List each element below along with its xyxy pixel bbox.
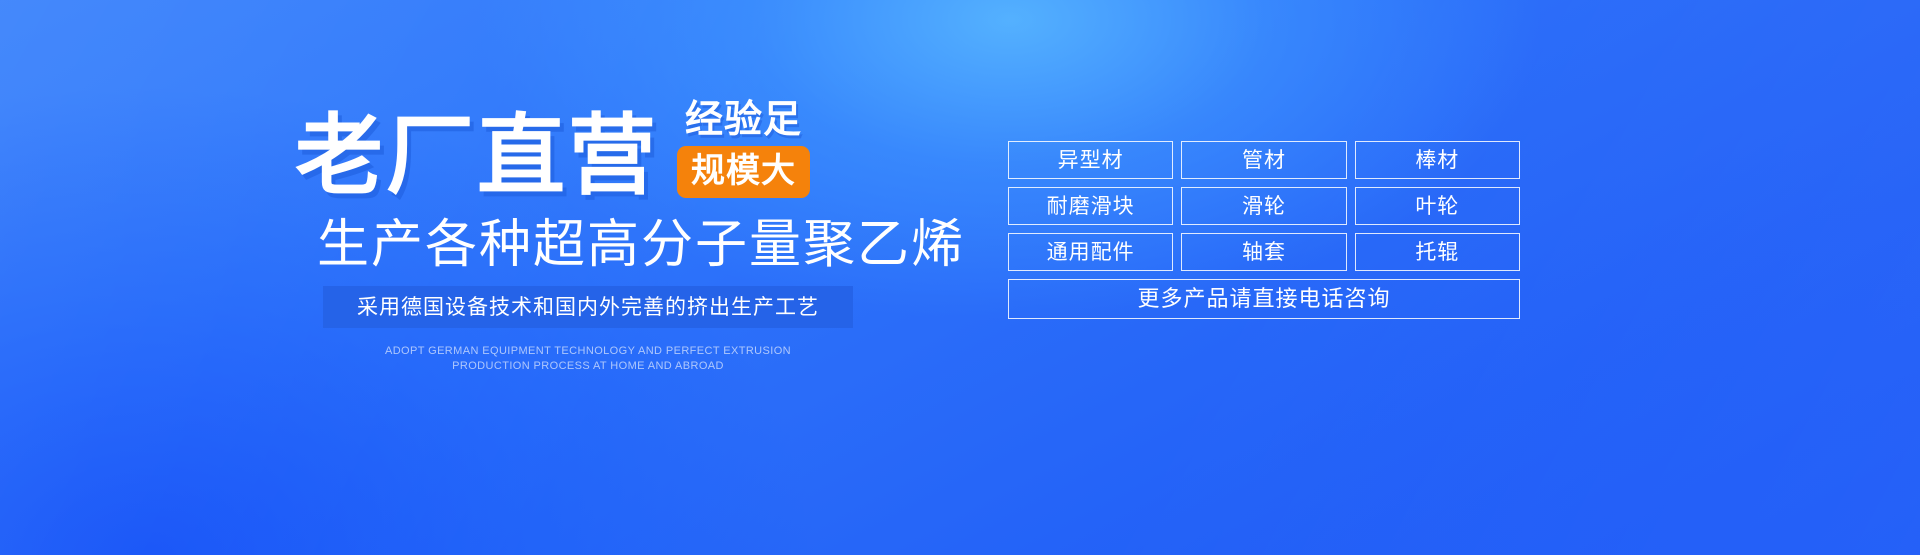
product-button-bangcai[interactable]: 棒材	[1355, 141, 1520, 179]
product-row: 耐磨滑块 滑轮 叶轮	[1008, 187, 1520, 225]
product-row: 通用配件 轴套 托辊	[1008, 233, 1520, 271]
badge-experience: 经验足	[685, 99, 802, 141]
product-button-zhoutao[interactable]: 轴套	[1181, 233, 1346, 271]
tagline-text: 采用德国设备技术和国内外完善的挤出生产工艺	[357, 297, 819, 318]
product-button-yelun[interactable]: 叶轮	[1355, 187, 1520, 225]
product-row: 异型材 管材 棒材	[1008, 141, 1520, 179]
english-subtitle-block: ADOPT GERMAN EQUIPMENT TECHNOLOGY AND PE…	[323, 344, 853, 374]
product-category-grid: 异型材 管材 棒材 耐磨滑块 滑轮 叶轮 通用配件 轴套 托辊 更多产品请直接电…	[1008, 141, 1520, 319]
badge-scale: 规模大	[677, 146, 810, 198]
product-button-tongyongpeijian[interactable]: 通用配件	[1008, 233, 1173, 271]
hero-subtitle: 生产各种超高分子量聚乙烯	[317, 216, 877, 274]
product-button-hualun[interactable]: 滑轮	[1181, 187, 1346, 225]
promo-banner: 老厂直营 经验足 规模大 生产各种超高分子量聚乙烯 采用德国设备技术和国内外完善…	[0, 0, 1920, 555]
main-title: 老厂直营	[295, 112, 659, 200]
hero-text-block: 老厂直营 经验足 规模大 生产各种超高分子量聚乙烯 采用德国设备技术和国内外完善…	[295, 96, 995, 374]
more-products-button[interactable]: 更多产品请直接电话咨询	[1008, 279, 1520, 319]
english-subtitle-line-2: PRODUCTION PROCESS AT HOME AND ABROAD	[323, 359, 853, 374]
english-subtitle-line-1: ADOPT GERMAN EQUIPMENT TECHNOLOGY AND PE…	[323, 344, 853, 359]
headline-row: 老厂直营 经验足 规模大	[295, 96, 995, 200]
badge-stack: 经验足 规模大	[677, 99, 810, 200]
product-button-tuogun[interactable]: 托辊	[1355, 233, 1520, 271]
tagline-bar: 采用德国设备技术和国内外完善的挤出生产工艺	[323, 286, 853, 328]
product-button-yixingcai[interactable]: 异型材	[1008, 141, 1173, 179]
product-button-naimohuakuai[interactable]: 耐磨滑块	[1008, 187, 1173, 225]
product-button-guancai[interactable]: 管材	[1181, 141, 1346, 179]
